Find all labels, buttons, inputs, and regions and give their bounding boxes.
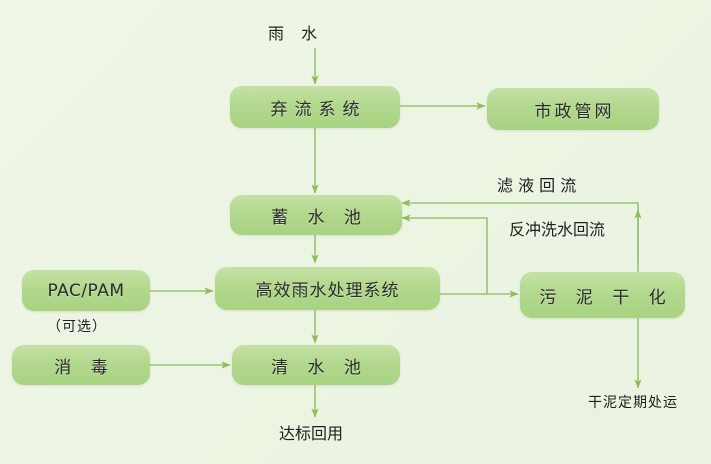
reuse-label: 达标回用 <box>279 420 343 444</box>
node-cleartank[interactable]: 清 水 池 <box>232 345 400 385</box>
flowchart-canvas: 雨 水 弃流系统 市政管网 蓄 水 池 高效雨水处理系统 PAC/PAM （可选… <box>0 0 711 464</box>
filtrate-return-label: 滤 液 回 流 <box>497 172 576 196</box>
node-disinfect[interactable]: 消 毒 <box>12 345 150 385</box>
node-municipal[interactable]: 市政管网 <box>487 88 659 130</box>
node-treatment[interactable]: 高效雨水处理系统 <box>215 267 440 310</box>
backwash-return-label: 反冲洗水回流 <box>509 216 605 240</box>
node-sludge[interactable]: 污 泥 干 化 <box>520 272 685 318</box>
chemical-optional-label: （可选） <box>47 316 107 336</box>
node-diversion[interactable]: 弃流系统 <box>230 86 400 128</box>
node-chemical[interactable]: PAC/PAM <box>22 270 150 311</box>
source-label: 雨 水 <box>268 20 323 44</box>
sludge-disposal-label: 干泥定期处运 <box>588 392 678 412</box>
node-storage[interactable]: 蓄 水 池 <box>230 195 402 235</box>
